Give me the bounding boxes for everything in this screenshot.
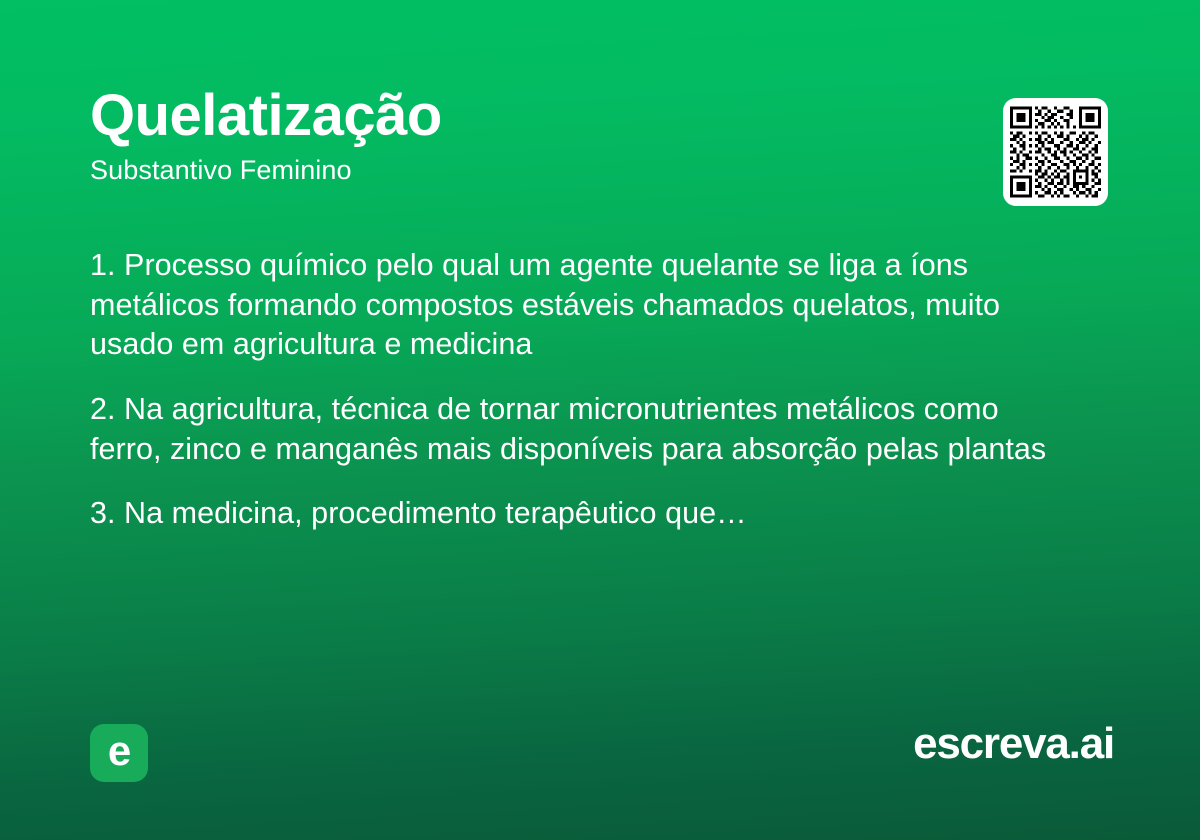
word-class-label: Substantivo Feminino: [90, 156, 970, 186]
escreva-logo-icon[interactable]: e: [90, 724, 148, 782]
card-header: Quelatização Substantivo Feminino: [90, 86, 970, 185]
logo-letter: e: [108, 730, 130, 772]
definition-item: 2. Na agricultura, técnica de tornar mic…: [90, 390, 1070, 469]
qr-code-card[interactable]: [1003, 98, 1108, 206]
definition-list: 1. Processo químico pelo qual um agente …: [90, 246, 1090, 534]
qr-code-icon: [1010, 105, 1101, 199]
definition-item: 1. Processo químico pelo qual um agente …: [90, 246, 1090, 365]
dictionary-card: Quelatização Substantivo Feminino: [0, 0, 1200, 840]
definition-item: 3. Na medicina, procedimento terapêutico…: [90, 494, 1070, 534]
page-title: Quelatização: [90, 86, 970, 146]
brand-wordmark[interactable]: escreva.ai: [913, 722, 1114, 766]
